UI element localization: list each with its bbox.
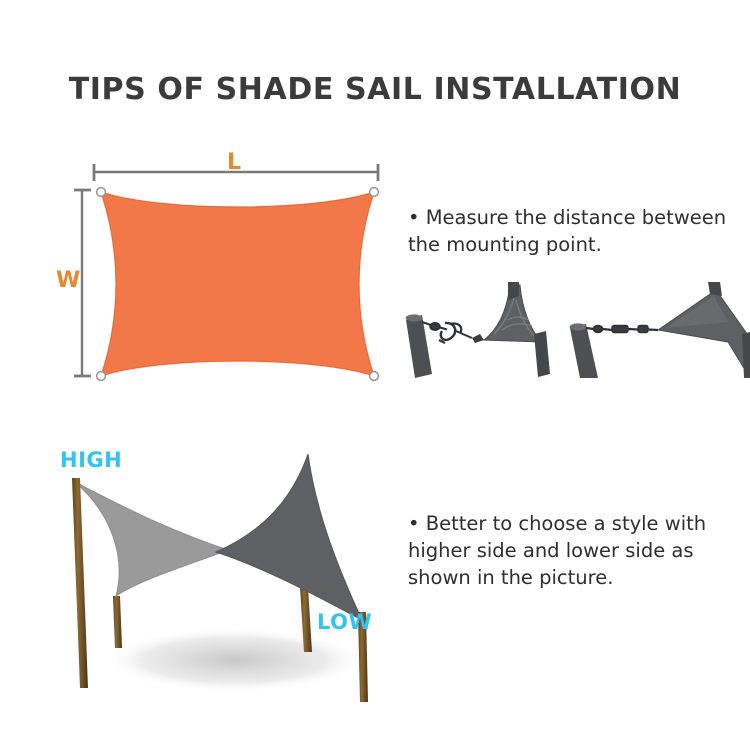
strap-right-a <box>708 282 722 296</box>
tips-bottom-text: • Better to choose a style with higher s… <box>408 456 750 656</box>
post-back-left <box>113 596 122 648</box>
shade-sail-light <box>75 482 228 596</box>
grommet-bottom-left <box>97 372 106 381</box>
grommet-bottom-right <box>370 372 379 381</box>
grommet-top-left <box>97 188 106 197</box>
tip-style: • Better to choose a style with higher s… <box>408 510 750 591</box>
tip-measure-line2: the mounting point. <box>408 233 602 256</box>
turnbuckle-icon-right <box>586 326 658 333</box>
tips-top-text: • Measure the distance between the mount… <box>408 150 750 280</box>
tip-measure: • Measure the distance between the mount… <box>408 204 750 258</box>
post-front-left <box>72 478 88 688</box>
shade-sail-shape <box>101 192 374 376</box>
tip-style-line3: shown in the picture. <box>408 566 613 589</box>
strap-left-b <box>534 331 550 377</box>
tip-style-line2: higher side and lower side as <box>408 539 694 562</box>
ground-shadow <box>105 628 365 692</box>
corner-plate-left <box>472 334 484 343</box>
grommet-top-right <box>370 188 379 197</box>
post-icon-right <box>570 323 598 378</box>
fixing-hardware-panel <box>398 282 750 378</box>
tip-measure-line1: • Measure the distance between <box>408 206 726 229</box>
tip-style-line1: • Better to choose a style with <box>408 512 706 535</box>
hardware-assembly-right <box>570 282 750 378</box>
page-title: TIPS OF SHADE SAIL INSTALLATION <box>0 72 750 107</box>
hardware-assembly-left <box>406 282 550 378</box>
inclination-panel <box>30 430 420 710</box>
high-label: HIGH <box>60 448 122 472</box>
width-label: W <box>56 268 80 293</box>
infographic-root: TIPS OF SHADE SAIL INSTALLATION L W <box>0 0 750 750</box>
length-label: L <box>227 150 241 175</box>
strap-right-b <box>742 332 750 378</box>
turnbuckle-icon-left <box>422 322 472 343</box>
shade-sail-dark <box>216 454 362 620</box>
low-label: LOW <box>317 610 372 634</box>
